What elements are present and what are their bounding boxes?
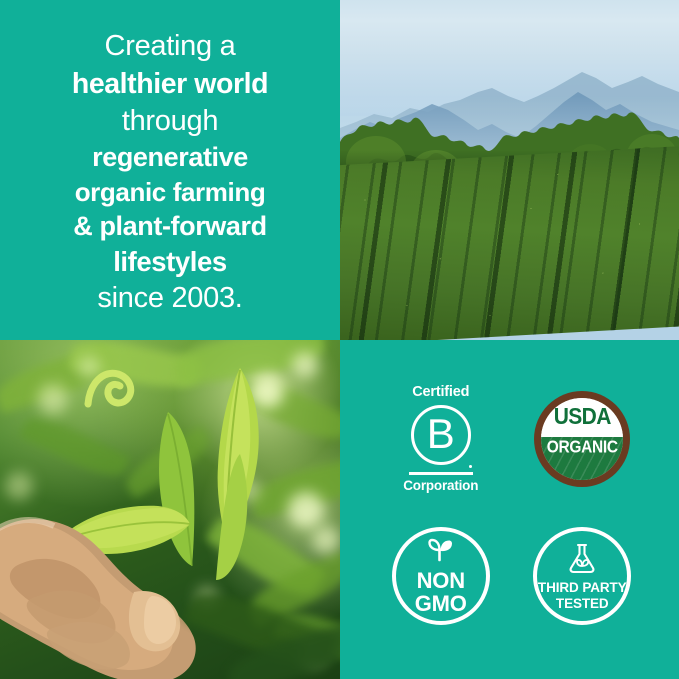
non-gmo-line-2: GMO [415, 593, 467, 615]
non-gmo-badge-circle: NON GMO [392, 527, 490, 625]
b-corp-letter: B [427, 413, 455, 455]
bokeh-highlight [292, 352, 318, 378]
statement-line-1: Creating a [14, 28, 326, 66]
badge-b-corp: Certified B Corporation [393, 385, 489, 492]
tea-leaf-photo [0, 340, 340, 679]
collage-canvas: Creating a healthier world through regen… [0, 0, 679, 679]
b-corp-divider [409, 472, 473, 475]
third-party-tested-badge-circle: THIRD PARTY TESTED [533, 527, 631, 625]
tea-field-rows [340, 146, 679, 340]
b-corp-icon: B [411, 405, 471, 465]
background-leaf [19, 409, 131, 484]
tea-field-photo [340, 0, 679, 340]
organic-label: ORGANIC [547, 439, 618, 456]
certifications-panel: Certified B Corporation USDA ORGANI [340, 340, 679, 679]
usda-label: USDA [554, 404, 611, 428]
third-party-tested-line-1: THIRD PARTY [538, 581, 627, 595]
usda-organic-seal-icon: USDA ORGANIC [534, 391, 630, 487]
curled-tea-shoot [82, 366, 142, 414]
hand [0, 492, 232, 679]
registered-mark-icon [469, 465, 472, 468]
usda-seal-inner: USDA ORGANIC [541, 398, 623, 480]
statement-line-3: through [14, 103, 326, 141]
statement-line-5: organic farming [14, 176, 326, 210]
statement-panel: Creating a healthier world through regen… [0, 0, 340, 340]
statement-line-8: since 2003. [14, 280, 326, 318]
flask-icon [564, 542, 600, 579]
b-corp-corporation-label: Corporation [403, 479, 478, 493]
tea-field-scene [340, 0, 679, 340]
bokeh-highlight [38, 384, 68, 414]
field-texture [340, 146, 679, 340]
statement-line-6: & plant-forward [14, 209, 326, 244]
non-gmo-line-1: NON [417, 570, 465, 592]
tea-leaf-scene [0, 340, 340, 679]
b-corp-certified-label: Certified [412, 385, 469, 400]
sprout-leaf-icon [424, 537, 458, 568]
statement-line-4: regenerative [14, 140, 326, 175]
third-party-tested-line-2: TESTED [556, 597, 609, 611]
usda-bottom-section: ORGANIC [541, 435, 623, 480]
bokeh-highlight [288, 492, 324, 528]
statement-line-7: lifestyles [14, 244, 326, 280]
bokeh-highlight [312, 526, 340, 554]
usda-top-section: USDA [541, 398, 623, 435]
statement-line-2: healthier world [14, 66, 326, 103]
badge-non-gmo: NON GMO [392, 527, 490, 625]
badge-third-party-tested: THIRD PARTY TESTED [533, 527, 631, 625]
badge-grid: Certified B Corporation USDA ORGANI [340, 340, 679, 679]
badge-usda-organic: USDA ORGANIC [534, 391, 630, 487]
statement-text-block: Creating a healthier world through regen… [0, 28, 340, 318]
